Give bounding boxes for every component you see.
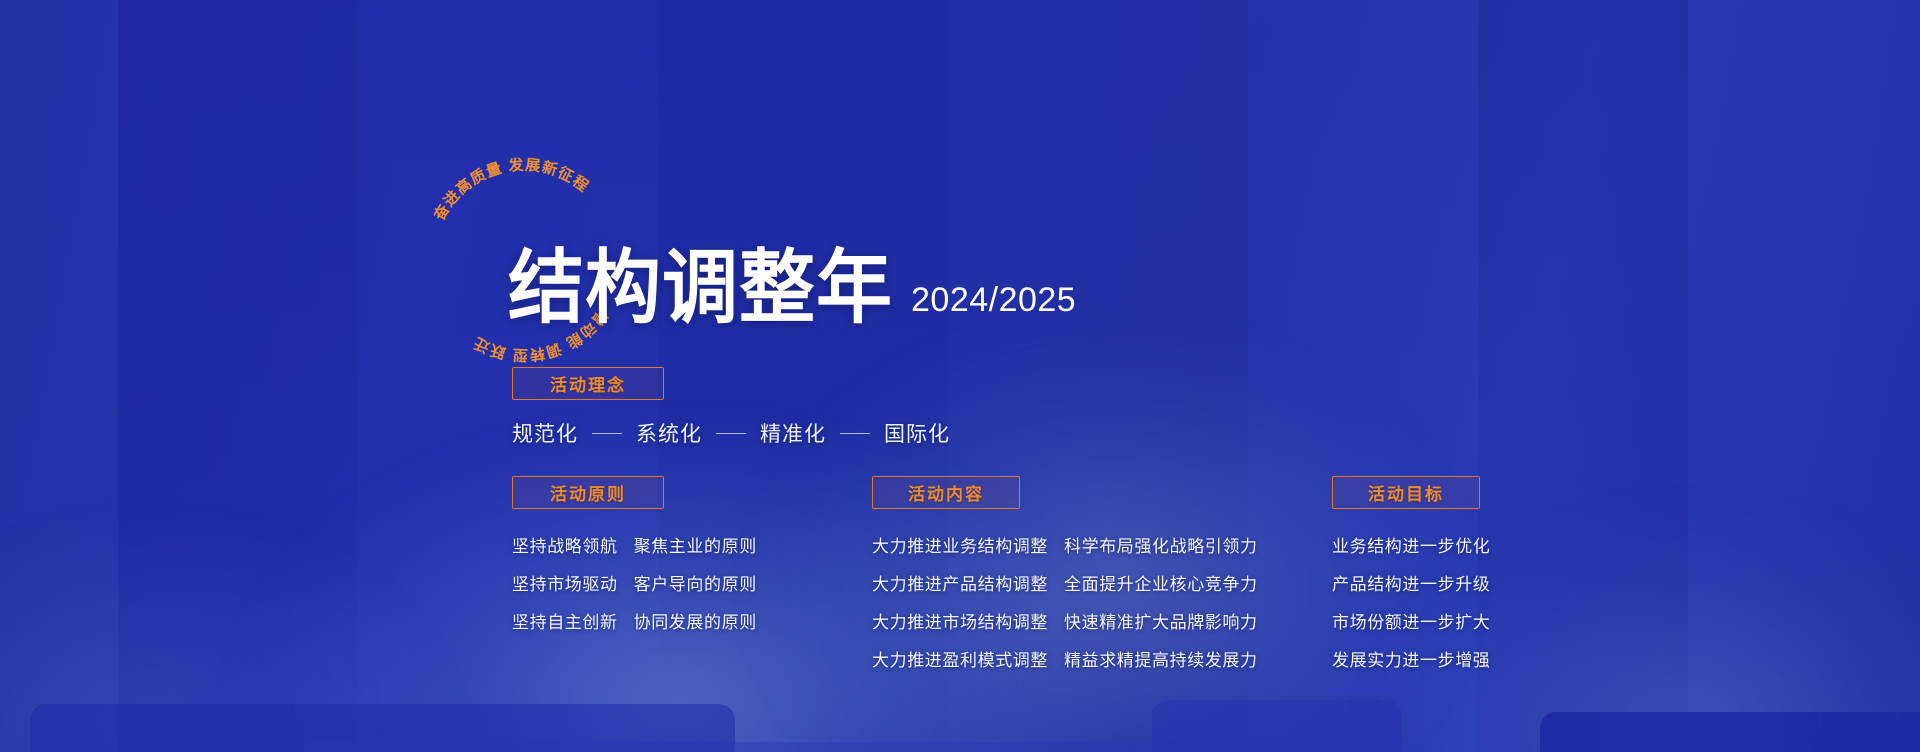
list-item-left: 发展实力进一步增强 [1332,646,1490,671]
list-item: 产品结构进一步升级 [1332,570,1490,595]
badge-activity-goals[interactable]: 活动目标 [1332,476,1480,509]
list-item-left: 坚持市场驱动 [512,570,618,595]
list-item: 坚持战略领航 聚焦主业的原则 [512,532,757,557]
badge-activity-contents[interactable]: 活动内容 [872,476,1020,509]
title-year: 2024/2025 [911,281,1076,320]
list-item-left: 坚持自主创新 [512,608,618,633]
list-item-right: 全面提升企业核心竞争力 [1064,570,1258,595]
page-title: 结构调整年 [508,247,893,328]
column-activity-goals: 业务结构进一步优化 产品结构进一步升级 市场份额进一步扩大 发展实力进一步增强 [1332,532,1490,684]
concept-separator-dash [592,433,622,434]
concept-separator-dash [840,433,870,434]
column-activity-principles: 坚持战略领航 聚焦主业的原则 坚持市场驱动 客户导向的原则 坚持自主创新 协同发… [512,532,757,646]
list-item-right: 科学布局强化战略引领力 [1064,532,1258,557]
concept-separator-dash [716,433,746,434]
list-item-right: 协同发展的原则 [634,608,757,633]
badge-activity-contents-label: 活动内容 [908,480,984,505]
circular-slogan-ring: 奋进高质量 发展新征程 增动能 调转型 跃迁 [404,140,504,240]
concept-keyword: 国际化 [884,418,950,448]
list-item: 大力推进产品结构调整 全面提升企业核心竞争力 [872,570,1258,595]
list-item: 大力推进盈利模式调整 精益求精提高持续发展力 [872,646,1258,671]
list-item: 坚持市场驱动 客户导向的原则 [512,570,757,595]
list-item-left: 大力推进业务结构调整 [872,532,1048,557]
badge-activity-concept[interactable]: 活动理念 [512,367,664,400]
list-item: 大力推进业务结构调整 科学布局强化战略引领力 [872,532,1258,557]
badge-activity-goals-label: 活动目标 [1368,480,1444,505]
list-item-right: 客户导向的原则 [634,570,757,595]
badge-activity-concept-label: 活动理念 [550,371,626,396]
list-item-right: 聚焦主业的原则 [634,532,757,557]
list-item-left: 市场份额进一步扩大 [1332,608,1490,633]
list-item: 业务结构进一步优化 [1332,532,1490,557]
list-item: 市场份额进一步扩大 [1332,608,1490,633]
list-item: 坚持自主创新 协同发展的原则 [512,608,757,633]
title-row: 结构调整年 2024/2025 [508,252,1076,328]
list-item-left: 产品结构进一步升级 [1332,570,1490,595]
list-item-left: 坚持战略领航 [512,532,618,557]
list-item: 发展实力进一步增强 [1332,646,1490,671]
list-item: 大力推进市场结构调整 快速精准扩大品牌影响力 [872,608,1258,633]
badge-activity-principles[interactable]: 活动原则 [512,476,664,509]
column-activity-contents: 大力推进业务结构调整 科学布局强化战略引领力 大力推进产品结构调整 全面提升企业… [872,532,1258,684]
concept-keyword: 精准化 [760,418,826,448]
badge-activity-principles-label: 活动原则 [550,480,626,505]
ring-text-top: 奋进高质量 发展新征程 [430,156,592,225]
concept-keyword: 规范化 [512,418,578,448]
concept-keyword: 系统化 [636,418,702,448]
list-item-left: 大力推进产品结构调整 [872,570,1048,595]
list-item-left: 大力推进盈利模式调整 [872,646,1048,671]
list-item-right: 精益求精提高持续发展力 [1064,646,1258,671]
structure-adjustment-year-banner: 奋进高质量 发展新征程 增动能 调转型 跃迁 结构调整年 2024/2025 活… [0,0,1920,752]
list-item-left: 业务结构进一步优化 [1332,532,1490,557]
concept-keyword-line: 规范化 系统化 精准化 国际化 [512,418,950,448]
list-item-right: 快速精准扩大品牌影响力 [1064,608,1258,633]
list-item-left: 大力推进市场结构调整 [872,608,1048,633]
